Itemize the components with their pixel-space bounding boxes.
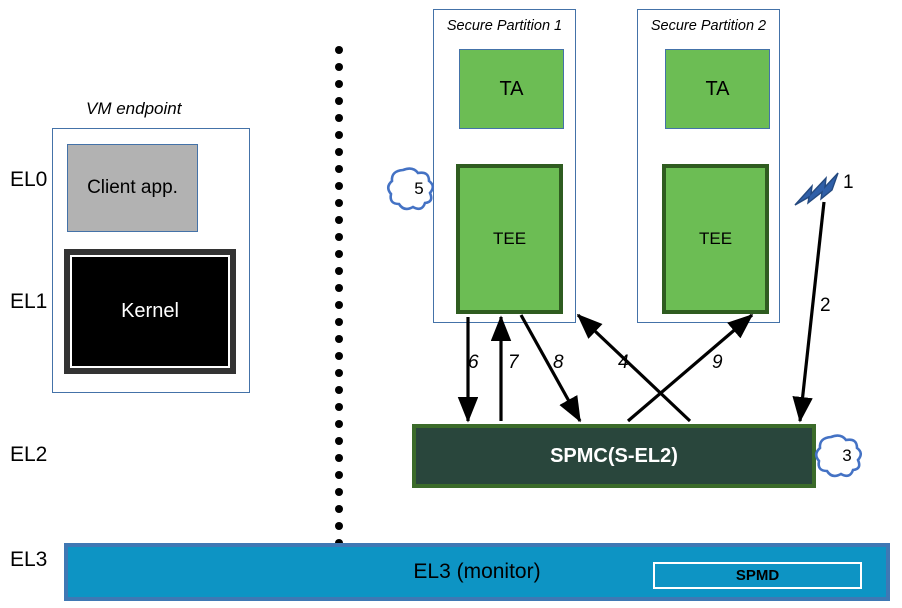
lightning-bolt-icon	[795, 173, 838, 205]
secure-partition-2-ta: TA	[665, 49, 770, 129]
kernel-box: Kernel	[64, 249, 236, 374]
el3-monitor-label: EL3 (monitor)	[413, 560, 540, 584]
arrow-4	[578, 315, 690, 421]
arrow-label-4: 4	[618, 352, 629, 374]
secure-partition-1-title: Secure Partition 1	[434, 18, 575, 34]
kernel-label: Kernel	[70, 255, 230, 368]
arrow-8	[521, 315, 580, 421]
secure-partition-1-tee: TEE	[456, 164, 563, 314]
arrow-9	[628, 315, 752, 421]
arrow-label-8: 8	[553, 352, 564, 374]
client-app-box: Client app.	[67, 144, 198, 232]
arrow-label-9: 9	[712, 352, 723, 374]
spmc-box: SPMC(S-EL2)	[412, 424, 816, 488]
arrow-label-2: 2	[820, 295, 831, 317]
secure-partition-2-tee: TEE	[662, 164, 769, 314]
callout-label-1: 1	[843, 172, 854, 194]
exception-level-label-el0: EL0	[10, 168, 47, 192]
cloud-callout-3-label: 3	[831, 446, 863, 466]
arrow-label-7: 7	[508, 352, 519, 374]
vm-endpoint-title: VM endpoint	[86, 99, 181, 119]
secure-partition-2-title: Secure Partition 2	[638, 18, 779, 34]
cloud-callout-5-label: 5	[403, 179, 435, 199]
spmd-box: SPMD	[653, 562, 862, 589]
exception-level-label-el1: EL1	[10, 290, 47, 314]
diagram-canvas: EL0 EL1 EL2 EL3 VM endpoint Client app. …	[0, 0, 902, 608]
exception-level-label-el2: EL2	[10, 443, 47, 467]
exception-level-label-el3: EL3	[10, 548, 47, 572]
arrow-label-6: 6	[468, 352, 479, 374]
secure-partition-1-ta: TA	[459, 49, 564, 129]
